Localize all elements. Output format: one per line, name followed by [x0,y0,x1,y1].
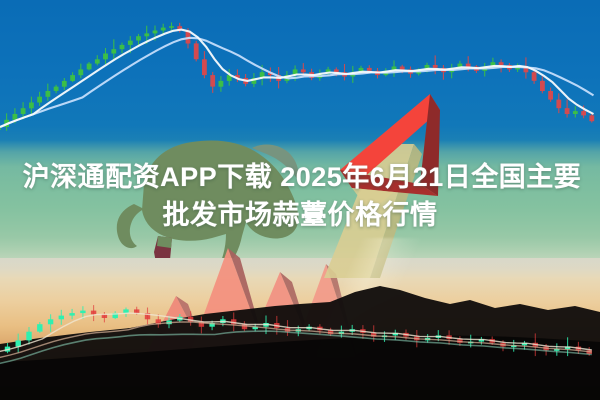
banner-image: 沪深通配资APP下载 2025年6月21日全国主要 批发市场蒜薹价格行情 [0,0,600,400]
lower-candlestick-chart [0,258,600,400]
